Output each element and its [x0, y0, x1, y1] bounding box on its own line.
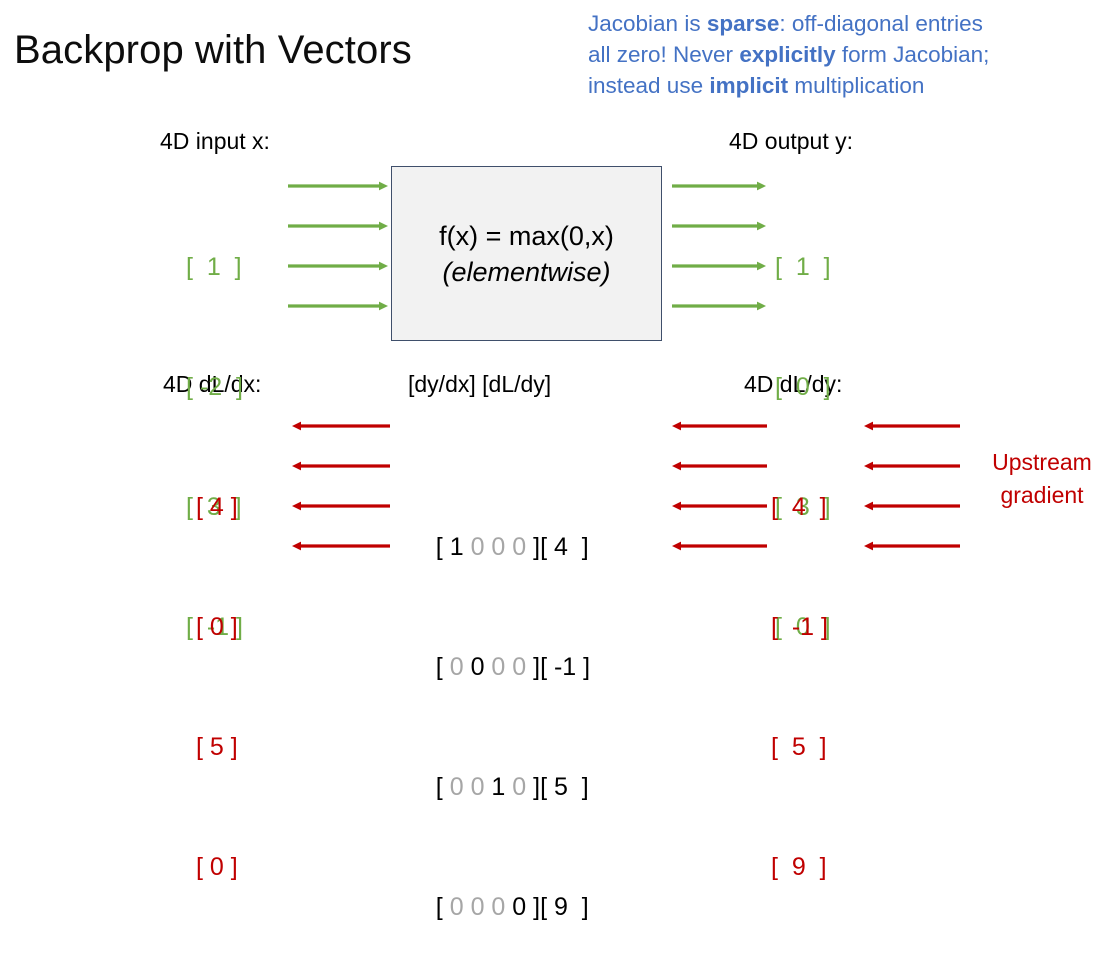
jacobian-note-line-2: all zero! Never explicitly form Jacobian… [588, 39, 1116, 70]
arrow-jacobian-to-dldx-4 [292, 538, 390, 554]
arrow-input-to-function-4 [288, 298, 388, 314]
function-box: f(x) = max(0,x) (elementwise) [391, 166, 662, 341]
jacobian-cell: 1 0 0 0 [450, 533, 526, 561]
vector-element: [ 1 ] [186, 247, 243, 287]
jacobian-offdiagonal-entry: 0 [450, 893, 471, 921]
label-input-x: 4D input x: [160, 128, 270, 155]
vector-element: [ 5 ] [771, 727, 828, 767]
vector-element: [ 0 ] [196, 607, 238, 647]
jacobian-note-line-1: Jacobian is sparse: off-diagonal entries [588, 8, 1116, 39]
arrow-input-to-function-1 [288, 178, 388, 194]
arrow-input-to-function-2 [288, 218, 388, 234]
bracket-close: ] [526, 653, 540, 681]
upstream-gradient-label: Upstream gradient [968, 446, 1116, 512]
note-text: all zero! Never [588, 42, 739, 67]
bracket-open: [ [436, 533, 450, 561]
function-formula: f(x) = max(0,x) [392, 218, 661, 254]
arrow-input-to-function-3 [288, 258, 388, 274]
function-subtitle: (elementwise) [392, 254, 661, 290]
vector-element: [ 9 ] [771, 847, 828, 887]
arrow-upstream-to-dldy-3 [864, 498, 960, 514]
jacobian-offdiagonal-entry: 0 [491, 533, 512, 561]
arrow-dldy-to-jacobian-2 [672, 458, 767, 474]
jacobian-offdiagonal-entry: 0 [471, 773, 492, 801]
vector-dldx: [ 4 ] [ 0 ] [ 5 ] [ 0 ] [196, 407, 238, 927]
vector-element: [ -2 ] [186, 367, 243, 407]
jacobian-matrix: [ 1 0 0 0 ][ 4 ] [ 0 0 0 0 ][ -1 ] [ 0 0… [408, 407, 590, 927]
note-text: multiplication [788, 73, 924, 98]
upstream-gradient-line-1: Upstream [968, 446, 1116, 479]
arrow-function-to-output-1 [672, 178, 766, 194]
jacobian-offdiagonal-entry: 0 [471, 533, 492, 561]
arrow-jacobian-to-dldx-1 [292, 418, 390, 434]
bracket-open: [ [436, 893, 450, 921]
upstream-gradient-line-2: gradient [968, 479, 1116, 512]
jacobian-offdiagonal-entry: 0 [471, 893, 492, 921]
upstream-element: [ 5 ] [540, 773, 589, 801]
arrow-jacobian-to-dldx-3 [292, 498, 390, 514]
jacobian-diagonal-entry: 0 [512, 893, 526, 921]
jacobian-offdiagonal-entry: 0 [491, 653, 512, 681]
jacobian-diagonal-entry: 0 [471, 653, 492, 681]
arrow-function-to-output-2 [672, 218, 766, 234]
jacobian-row: [ 0 0 0 0 ][ -1 ] [408, 607, 590, 647]
jacobian-diagonal-entry: 1 [450, 533, 471, 561]
jacobian-note-line-3: instead use implicit multiplication [588, 70, 1116, 101]
bracket-open: [ [436, 773, 450, 801]
jacobian-note: Jacobian is sparse: off-diagonal entries… [588, 8, 1116, 101]
label-jacobian-matrices: [dy/dx] [dL/dy] [408, 371, 551, 398]
vector-element: [ 0 ] [775, 367, 831, 407]
vector-element: [ 5 ] [196, 727, 238, 767]
vector-element: [ 0 ] [196, 847, 238, 887]
bracket-close: ] [526, 773, 540, 801]
page-title: Backprop with Vectors [14, 28, 412, 73]
jacobian-cell: 0 0 0 0 [450, 653, 526, 681]
jacobian-offdiagonal-entry: 0 [512, 653, 526, 681]
note-text: : off-diagonal entries [779, 11, 982, 36]
vector-element: [ 4 ] [196, 487, 238, 527]
arrow-function-to-output-3 [672, 258, 766, 274]
bracket-close: ] [526, 533, 540, 561]
note-text: instead use [588, 73, 709, 98]
arrow-upstream-to-dldy-1 [864, 418, 960, 434]
arrow-dldy-to-jacobian-1 [672, 418, 767, 434]
jacobian-offdiagonal-entry: 0 [450, 773, 471, 801]
arrow-dldy-to-jacobian-3 [672, 498, 767, 514]
arrow-function-to-output-4 [672, 298, 766, 314]
jacobian-cell: 0 0 1 0 [450, 773, 526, 801]
jacobian-offdiagonal-entry: 0 [512, 533, 526, 561]
jacobian-cell: 0 0 0 0 [450, 893, 526, 921]
jacobian-row: [ 0 0 0 0 ][ 9 ] [408, 847, 590, 887]
note-emphasis-sparse: sparse [707, 11, 780, 36]
upstream-element: [ 9 ] [540, 893, 589, 921]
arrow-upstream-to-dldy-2 [864, 458, 960, 474]
vector-element: [ 1 ] [775, 247, 831, 287]
arrow-jacobian-to-dldx-2 [292, 458, 390, 474]
label-output-y: 4D output y: [729, 128, 853, 155]
note-emphasis-explicitly: explicitly [739, 42, 835, 67]
note-emphasis-implicit: implicit [709, 73, 788, 98]
jacobian-row: [ 0 0 1 0 ][ 5 ] [408, 727, 590, 767]
vector-element: [ -1 ] [771, 607, 828, 647]
jacobian-offdiagonal-entry: 0 [450, 653, 471, 681]
jacobian-row: [ 1 0 0 0 ][ 4 ] [408, 487, 590, 527]
vector-dldy: [ 4 ] [ -1 ] [ 5 ] [ 9 ] [771, 407, 828, 927]
jacobian-offdiagonal-entry: 0 [491, 893, 512, 921]
note-text: Jacobian is [588, 11, 707, 36]
jacobian-diagonal-entry: 1 [491, 773, 512, 801]
arrow-upstream-to-dldy-4 [864, 538, 960, 554]
jacobian-offdiagonal-entry: 0 [512, 773, 526, 801]
bracket-close: ] [526, 893, 540, 921]
arrow-dldy-to-jacobian-4 [672, 538, 767, 554]
note-text: form Jacobian; [836, 42, 990, 67]
upstream-element: [ 4 ] [540, 533, 589, 561]
upstream-element: [ -1 ] [540, 653, 590, 681]
vector-element: [ 4 ] [771, 487, 828, 527]
bracket-open: [ [436, 653, 450, 681]
